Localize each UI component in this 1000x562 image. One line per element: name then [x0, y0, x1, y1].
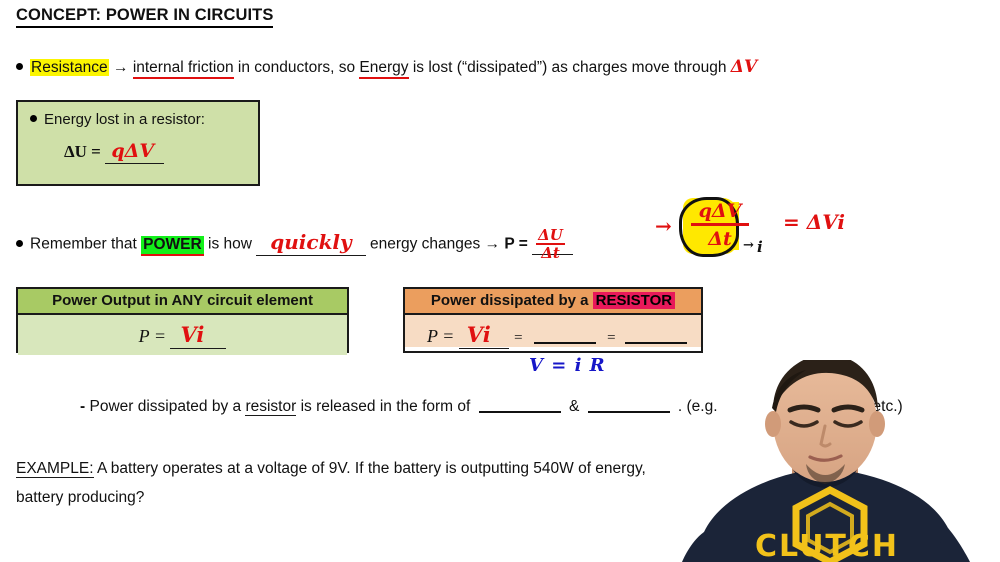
fraction-numerator: ΔU: [536, 228, 565, 243]
answer-blank-2: [625, 342, 687, 344]
text-dissipated: is lost (“dissipated”) as charges move t…: [413, 59, 727, 76]
equals-sign-1: =: [513, 330, 523, 346]
note-v-equals-ir: V = i R: [529, 355, 606, 376]
box-power-output-any-element: Power Output in ANY circuit element P = …: [16, 287, 349, 353]
fraction-bar: Δt: [691, 223, 749, 250]
energy-lost-label-row: Energy lost in a resistor:: [18, 102, 258, 128]
arrow-to-derivation: →: [655, 214, 672, 238]
label-p-equals: P =: [139, 326, 166, 346]
box-power-dissipated-body: P = Vi = =: [405, 315, 701, 347]
right-ear: [869, 411, 885, 437]
example-line-2: battery producing?: [16, 488, 144, 507]
instructor-illustration: CLUTCH: [660, 360, 1000, 562]
box-energy-lost-in-resistor: Energy lost in a resistor: ΔU = qΔV: [16, 100, 260, 186]
handwritten-quickly: quickly: [256, 230, 365, 256]
lecture-slide: CONCEPT: POWER IN CIRCUITS Resistance → …: [0, 0, 1000, 562]
handwritten-vi: Vi: [459, 322, 509, 349]
answer-blank-1: [534, 342, 596, 344]
left-ear: [765, 411, 781, 437]
bullet-icon: [16, 240, 23, 247]
bullet-icon: [16, 63, 23, 70]
phrase-internal-friction: internal friction: [133, 59, 234, 79]
label-p-equals: P =: [504, 236, 527, 253]
line-power-definition: Remember that POWER is how quickly energ…: [16, 228, 573, 261]
fraction-denominator: Δt: [536, 243, 565, 261]
energy-lost-equation-row: ΔU = qΔV: [18, 128, 258, 162]
text-released-in-form: is released in the form of: [301, 398, 471, 415]
page-title: CONCEPT: POWER IN CIRCUITS: [16, 6, 273, 28]
numerator-q: q: [699, 200, 712, 222]
annotation-derivation: → qΔV Δt → i = ΔVi: [655, 196, 905, 276]
arrow-glyph: →: [485, 236, 501, 253]
numerator-delta-v: ΔV: [712, 200, 741, 222]
text-is-how: is how: [208, 236, 252, 253]
header-prefix-text: Power dissipated by a: [431, 292, 589, 309]
instructor-webcam: CLUTCH: [660, 360, 1000, 562]
word-resistor-underlined: resistor: [245, 398, 296, 416]
substitution-symbol-i: i: [757, 238, 763, 256]
example-text-line-2: battery producing?: [16, 489, 144, 506]
released-blank-1: [479, 411, 561, 413]
bullet-icon: [30, 115, 37, 122]
dash-glyph: -: [80, 398, 85, 415]
box-power-output-header: Power Output in ANY circuit element: [18, 289, 347, 315]
box-power-output-body: P = Vi: [18, 315, 347, 355]
ampersand-glyph: &: [569, 398, 579, 415]
derivation-result: = ΔVi: [783, 210, 845, 234]
example-text-line-1: A battery operates at a voltage of 9V. I…: [97, 460, 646, 477]
handwritten-delta-v: ΔV: [731, 57, 757, 77]
substitution-arrow: →: [743, 238, 754, 253]
text-remember-that: Remember that: [30, 236, 137, 253]
handwritten-vi: Vi: [170, 322, 226, 349]
example-label: EXAMPLE:: [16, 460, 94, 478]
word-power: POWER: [141, 236, 204, 256]
denominator-delta-t: Δt: [708, 228, 732, 250]
fraction-blank-slot: ΔU Δt: [532, 236, 573, 255]
fraction-numerator-row: qΔV: [691, 200, 749, 222]
box-power-dissipated-resistor: Power dissipated by a RESISTOR P = Vi = …: [403, 287, 703, 353]
box-power-dissipated-header: Power dissipated by a RESISTOR: [405, 289, 701, 315]
energy-lost-label: Energy lost in a resistor:: [44, 111, 205, 128]
fraction-q-delta-v-over-delta-t: qΔV Δt: [691, 200, 749, 250]
released-blank-2: [588, 411, 670, 413]
example-line-1: EXAMPLE: A battery operates at a voltage…: [16, 459, 646, 478]
line-resistance: Resistance → internal friction in conduc…: [16, 57, 757, 78]
text-power-dissipated-by-a: Power dissipated by a: [89, 398, 241, 415]
fraction-delta-u-delta-t: ΔU Δt: [536, 228, 565, 261]
text-energy-changes: energy changes: [370, 236, 480, 253]
text-in-conductors: in conductors, so: [238, 59, 355, 76]
term-resistance: Resistance: [30, 59, 109, 76]
word-energy: Energy: [359, 59, 408, 79]
shirt-wordmark: CLUTCH: [755, 529, 899, 562]
handwritten-q-delta-v: qΔV: [105, 140, 164, 164]
arrow-glyph: →: [113, 59, 129, 76]
equals-sign-2: =: [606, 330, 616, 346]
equation-delta-u: ΔU =: [64, 142, 101, 161]
word-resistor-highlighted: RESISTOR: [593, 292, 675, 309]
label-p-equals: P =: [427, 326, 454, 346]
